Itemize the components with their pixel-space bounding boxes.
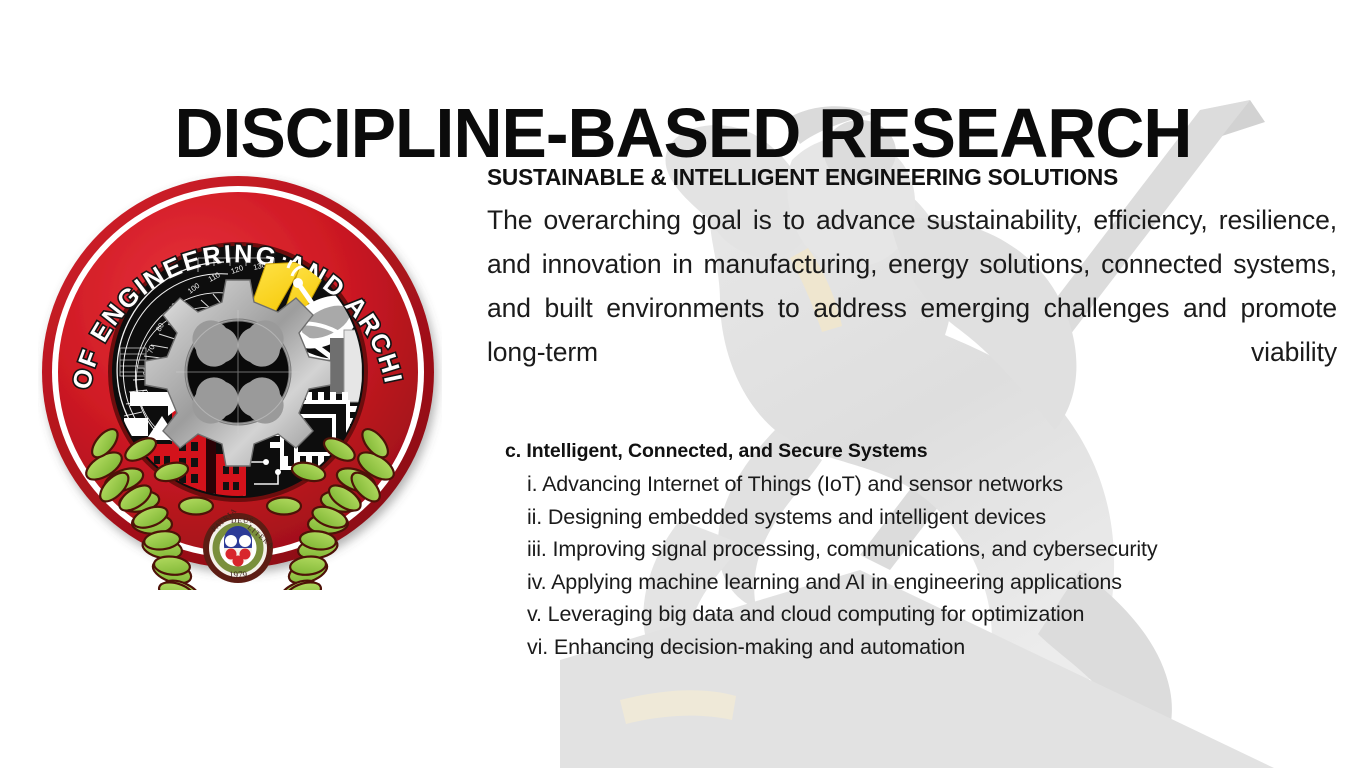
research-list-item: vi. Enhancing decision-making and automa… [527,631,1337,664]
research-sub-list: i. Advancing Internet of Things (IoT) an… [505,468,1337,663]
list-item-marker: i. [527,472,537,496]
research-list-item: i. Advancing Internet of Things (IoT) an… [527,468,1337,501]
list-item-marker: iii. [527,537,547,561]
page-title: DISCIPLINE-BASED RESEARCH [20,97,1345,169]
university-seal-year: 1979 [229,570,248,580]
research-list-item: ii. Designing embedded systems and intel… [527,501,1337,534]
research-list-heading: c. Intelligent, Connected, and Secure Sy… [505,436,1337,466]
gear-icon [145,280,331,466]
list-item-text: Enhancing decision-making and automation [548,635,965,659]
content-paragraph: The overarching goal is to advance susta… [487,198,1337,418]
content-column: SUSTAINABLE & INTELLIGENT ENGINEERING SO… [487,162,1337,663]
list-item-marker: iv. [527,570,546,594]
list-item-text: Applying machine learning and AI in engi… [546,570,1121,594]
list-item-text: Designing embedded systems and intellige… [542,505,1046,529]
list-item-marker: vi. [527,635,548,659]
research-list-item: iv. Applying machine learning and AI in … [527,566,1337,599]
research-list-item: iii. Improving signal processing, commun… [527,533,1337,566]
list-item-text: Advancing Internet of Things (IoT) and s… [537,472,1063,496]
list-item-marker: v. [527,602,542,626]
research-list-item: v. Leveraging big data and cloud computi… [527,598,1337,631]
list-item-text: Improving signal processing, communicati… [547,537,1158,561]
list-item-marker: ii. [527,505,542,529]
school-seal-logo: SCHOOL OF ENGINEERING AND ARCHITECTURE [38,166,442,590]
slide-canvas: DISCIPLINE-BASED RESEARCH [0,0,1366,768]
list-item-text: Leveraging big data and cloud computing … [542,602,1084,626]
content-subheading: SUSTAINABLE & INTELLIGENT ENGINEERING SO… [487,162,1324,192]
research-list-block: c. Intelligent, Connected, and Secure Sy… [505,436,1337,663]
